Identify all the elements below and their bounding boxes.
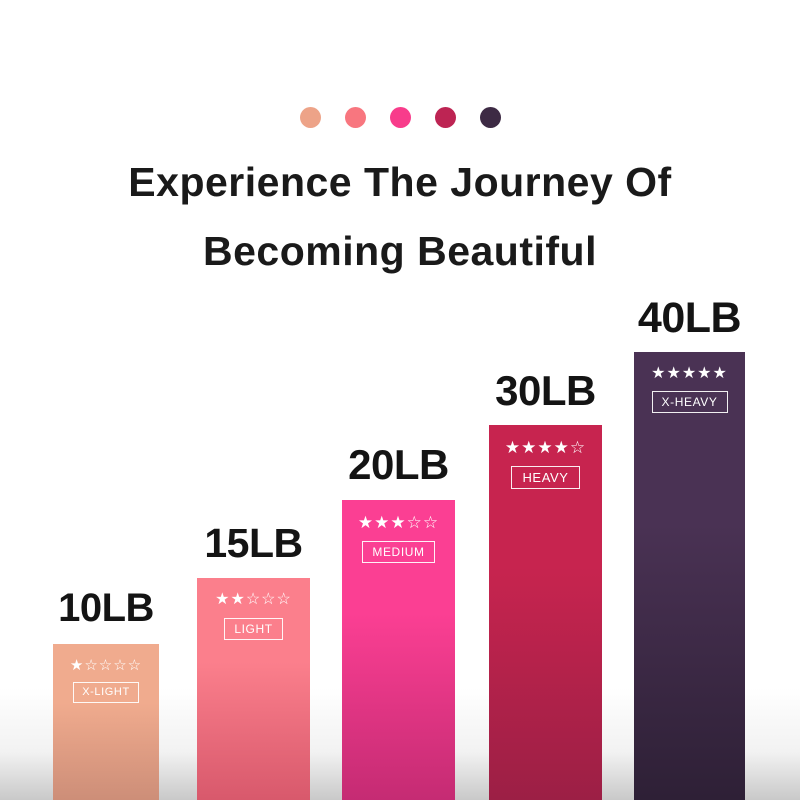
bar-weight-label-15lb: 15LB	[204, 520, 302, 567]
bar-content-10lb: ★☆☆☆☆X-LIGHT	[53, 658, 159, 703]
star-rating-40lb: ★★★★★	[651, 366, 728, 382]
bar-10lb[interactable]: ★☆☆☆☆X-LIGHT	[53, 644, 159, 800]
bar-weight-label-30lb: 30LB	[495, 367, 596, 415]
bar-weight-label-40lb: 40LB	[638, 294, 741, 343]
bar-group-30lb[interactable]: 30LB★★★★☆HEAVY	[489, 425, 602, 800]
level-badge-light: LIGHT	[224, 618, 282, 640]
promo-banner: Experience The Journey Of Becoming Beaut…	[0, 0, 800, 800]
star-rating-15lb: ★★☆☆☆	[215, 592, 292, 608]
bar-content-40lb: ★★★★★X-HEAVY	[634, 366, 745, 413]
level-badge-x-light: X-LIGHT	[73, 682, 139, 703]
bar-group-40lb[interactable]: 40LB★★★★★X-HEAVY	[634, 352, 745, 800]
bar-content-15lb: ★★☆☆☆LIGHT	[197, 592, 310, 640]
bar-15lb[interactable]: ★★☆☆☆LIGHT	[197, 578, 310, 800]
bar-group-15lb[interactable]: 15LB★★☆☆☆LIGHT	[197, 578, 310, 800]
level-badge-heavy: HEAVY	[511, 466, 579, 489]
resistance-bar-chart: 10LB★☆☆☆☆X-LIGHT15LB★★☆☆☆LIGHT20LB★★★☆☆M…	[0, 0, 800, 800]
level-badge-x-heavy: X-HEAVY	[652, 391, 728, 413]
star-rating-10lb: ★☆☆☆☆	[70, 658, 142, 673]
level-badge-medium: MEDIUM	[362, 541, 434, 563]
star-rating-30lb: ★★★★☆	[505, 439, 586, 456]
star-rating-20lb: ★★★☆☆	[358, 514, 439, 531]
bar-weight-label-20lb: 20LB	[348, 441, 449, 489]
bar-content-20lb: ★★★☆☆MEDIUM	[342, 514, 455, 563]
bar-group-10lb[interactable]: 10LB★☆☆☆☆X-LIGHT	[53, 644, 159, 800]
bar-weight-label-10lb: 10LB	[58, 586, 154, 631]
bar-group-20lb[interactable]: 20LB★★★☆☆MEDIUM	[342, 500, 455, 800]
bar-20lb[interactable]: ★★★☆☆MEDIUM	[342, 500, 455, 800]
bar-30lb[interactable]: ★★★★☆HEAVY	[489, 425, 602, 800]
bar-40lb[interactable]: ★★★★★X-HEAVY	[634, 352, 745, 800]
bar-content-30lb: ★★★★☆HEAVY	[489, 439, 602, 489]
